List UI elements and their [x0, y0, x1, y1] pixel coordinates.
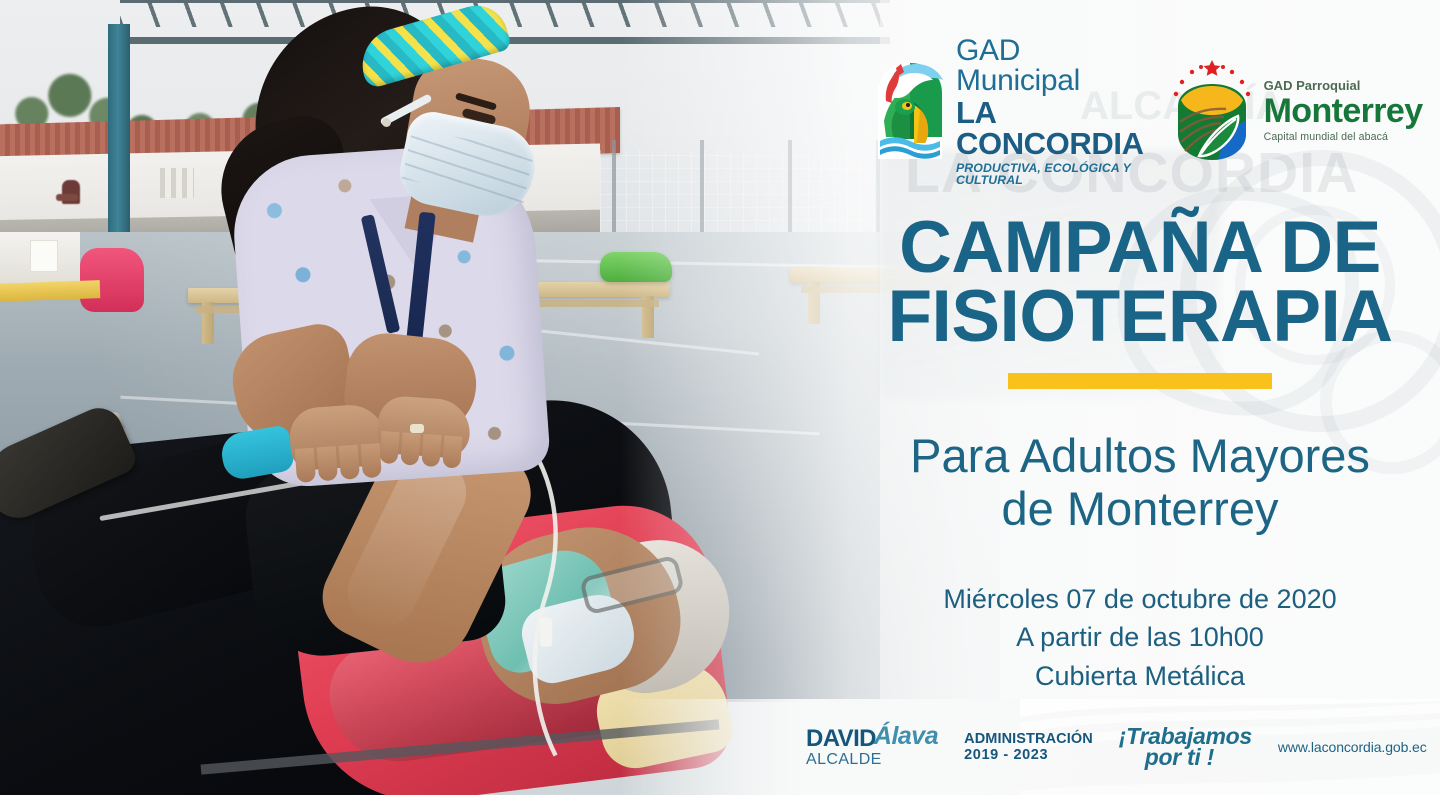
logo-line-tagline: PRODUCTIVA, ECOLÓGICA Y CULTURAL: [956, 162, 1144, 187]
yellow-divider-rule: [1008, 373, 1272, 389]
la-concordia-wordmark: GAD Municipal LA CONCORDIA PRODUCTIVA, E…: [956, 36, 1144, 187]
mayor-first-name: DAVID: [806, 727, 876, 751]
logo-gad-municipal-la-concordia: GAD Municipal LA CONCORDIA PRODUCTIVA, E…: [874, 36, 1144, 187]
event-details: Miércoles 07 de octubre de 2020 A partir…: [880, 580, 1400, 695]
logo-line-gad-municipal: GAD Municipal: [956, 36, 1144, 96]
headline-line-1: CAMPAÑA DE: [880, 214, 1400, 283]
mayor-last-name: Álava: [874, 724, 938, 749]
photo-therapist-ring: [410, 424, 424, 433]
subtitle-line-1: Para Adultos Mayores: [880, 430, 1400, 483]
headline-line-2: FISIOTERAPIA: [880, 283, 1400, 352]
monterrey-shield-icon: [1168, 56, 1256, 166]
footer-bar: DAVID Álava ALCALDE ADMINISTRACIÓN 2019 …: [0, 699, 1440, 795]
logo-row: GAD Municipal LA CONCORDIA PRODUCTIVA, E…: [874, 52, 1394, 170]
slogan-line-2: por ti !: [1145, 747, 1252, 768]
poster-campaign-flyer: ALCALDÍA LA CONCORDIA: [0, 0, 1440, 795]
subtitle: Para Adultos Mayores de Monterrey: [880, 430, 1400, 535]
website-block[interactable]: www.laconcordia.gob.ec: [1278, 739, 1427, 755]
logo-gad-parroquial-monterrey: GAD Parroquial Monterrey Capital mundial…: [1168, 56, 1423, 166]
footer-content: DAVID Álava ALCALDE ADMINISTRACIÓN 2019 …: [806, 699, 1440, 795]
photo-therapist: [110, 0, 530, 520]
administration-block: ADMINISTRACIÓN 2019 - 2023: [964, 731, 1093, 763]
logo-line-la-concordia: LA CONCORDIA: [956, 97, 1144, 159]
administration-label: ADMINISTRACIÓN: [964, 731, 1093, 747]
mayor-role: ALCALDE: [806, 752, 938, 768]
photo-distant-person: [62, 180, 80, 204]
event-venue: Cubierta Metálica: [880, 657, 1400, 695]
event-date: Miércoles 07 de octubre de 2020: [880, 580, 1400, 618]
la-concordia-emblem-icon: [874, 59, 946, 163]
logo-line-gad-parroquial: GAD Parroquial: [1264, 79, 1423, 92]
headline: CAMPAÑA DE FISIOTERAPIA: [880, 214, 1400, 389]
event-time: A partir de las 10h00: [880, 618, 1400, 656]
photo-therapist-hand-left: [288, 403, 388, 472]
mayor-signature-block: DAVID Álava ALCALDE: [806, 726, 938, 768]
logo-line-monterrey: Monterrey: [1264, 94, 1423, 128]
subtitle-line-2: de Monterrey: [880, 483, 1400, 536]
photo-therapist-earring: [382, 118, 391, 127]
administration-years: 2019 - 2023: [964, 747, 1093, 763]
website-url[interactable]: www.laconcordia.gob.ec: [1278, 739, 1427, 755]
logo-line-abaca-tagline: Capital mundial del abacá: [1264, 132, 1423, 143]
monterrey-wordmark: GAD Parroquial Monterrey Capital mundial…: [1264, 79, 1423, 143]
slogan-block: ¡Trabajamos por ti !: [1119, 726, 1252, 768]
